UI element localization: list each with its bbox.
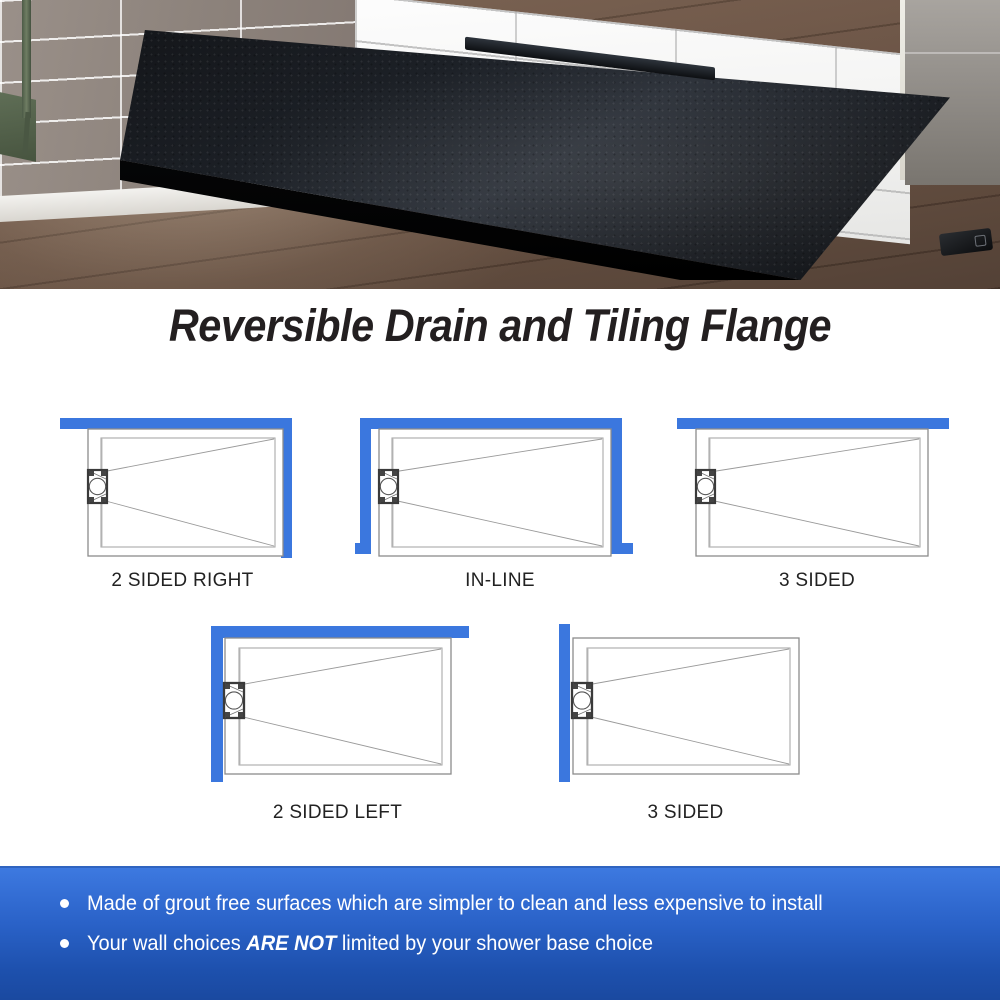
drain-icon xyxy=(224,683,244,718)
base-outer xyxy=(379,429,611,556)
drain-icon xyxy=(88,470,107,503)
drain-icon xyxy=(696,470,715,503)
diagram-3-sided-top: 3 SIDED xyxy=(672,414,962,589)
diagram-2-sided-left-svg xyxy=(205,622,470,787)
diagram-3-sided-left-svg xyxy=(553,622,818,787)
bullet-dot-icon xyxy=(60,899,69,908)
wall-left-foot xyxy=(355,543,371,554)
drain-icon xyxy=(379,470,398,503)
diagram-label-in-line: IN-LINE xyxy=(355,570,645,592)
base-outer xyxy=(225,638,451,774)
wall-top xyxy=(211,626,469,638)
feature-bullets-panel: Made of grout free surfaces which are si… xyxy=(0,866,1000,1000)
list-item: Your wall choices ARE NOT limited by you… xyxy=(60,930,956,958)
diagram-label-2-sided-right: 2 SIDED RIGHT xyxy=(55,570,310,592)
diagram-3-sided-left: 3 SIDED xyxy=(553,622,818,822)
diagram-2-sided-right-svg xyxy=(55,414,310,564)
diagram-label-2-sided-left: 2 SIDED LEFT xyxy=(205,802,470,824)
diagram-2-sided-left: 2 SIDED LEFT xyxy=(205,622,470,822)
wall-right xyxy=(611,418,622,554)
bullet-2-emphasis: ARE NOT xyxy=(246,931,336,955)
green-frame-post xyxy=(22,0,31,118)
wall-left xyxy=(211,626,223,782)
bullet-2-text-before: Your wall choices xyxy=(87,931,246,955)
page-title: Reversible Drain and Tiling Flange xyxy=(40,300,960,352)
black-shower-base xyxy=(120,30,950,280)
bullet-dot-icon xyxy=(60,939,69,948)
base-outer xyxy=(573,638,799,774)
bullet-text-2: Your wall choices ARE NOT limited by you… xyxy=(87,930,653,958)
diagram-grid: 2 SIDED RIGHT IN-LIN xyxy=(0,400,1000,855)
base-outer xyxy=(88,429,283,556)
wall-left xyxy=(360,418,371,554)
base-outer xyxy=(696,429,928,556)
wall-right-foot xyxy=(611,543,633,554)
wall-top xyxy=(60,418,292,429)
diagram-in-line: IN-LINE xyxy=(355,414,645,589)
wall-left xyxy=(559,624,570,782)
wall-top xyxy=(360,418,622,429)
diagram-2-sided-right: 2 SIDED RIGHT xyxy=(55,414,310,589)
diagram-in-line-svg xyxy=(355,414,645,564)
diagram-3-sided-top-svg xyxy=(672,414,962,564)
diagram-label-3-sided-top: 3 SIDED xyxy=(672,570,962,592)
product-photo xyxy=(0,0,1000,289)
diagram-label-3-sided-left: 3 SIDED xyxy=(553,802,818,824)
bullet-text-1: Made of grout free surfaces which are si… xyxy=(87,890,823,918)
bullet-2-text-after: limited by your shower base choice xyxy=(336,931,653,955)
bullet-1-text: Made of grout free surfaces which are si… xyxy=(87,891,823,915)
wall-top xyxy=(677,418,949,429)
list-item: Made of grout free surfaces which are si… xyxy=(60,890,956,918)
drain-icon xyxy=(572,683,592,718)
